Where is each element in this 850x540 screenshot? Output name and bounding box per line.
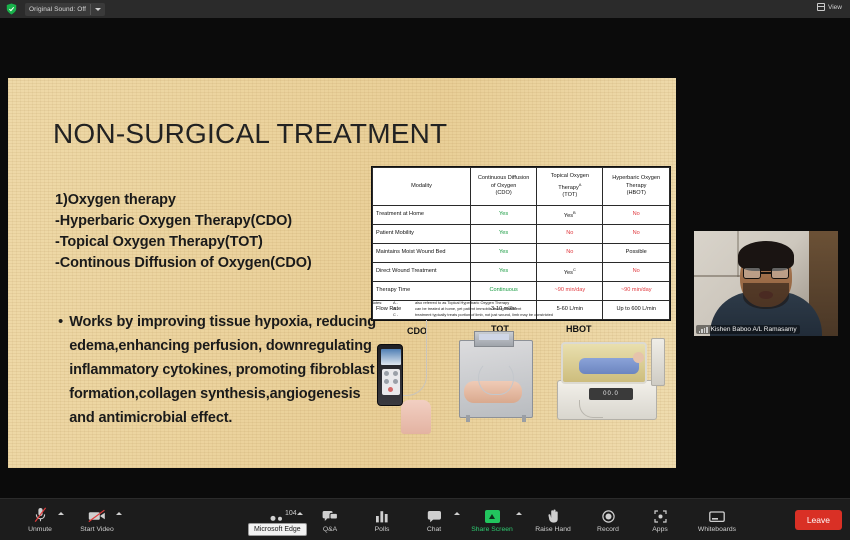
whiteboards-label: Whiteboards	[698, 526, 736, 533]
device-screen	[381, 349, 401, 365]
header-line: Hyperbaric Oxygen	[604, 175, 668, 183]
header-line: Therapy	[604, 183, 668, 191]
patient-body	[579, 358, 639, 374]
slide-bullet-lines: 1)Oxygen therapy -Hyperbaric Oxygen Ther…	[55, 190, 385, 274]
row-label: Therapy Time	[373, 282, 471, 301]
cell-text: Yes	[564, 270, 573, 276]
meeting-toolbar: Unmute Start Video 104 Q&A	[0, 498, 850, 540]
leave-button[interactable]: Leave	[795, 510, 842, 530]
participants-count: 104	[285, 510, 297, 517]
raise-hand-label: Raise Hand	[535, 526, 571, 533]
header-line: of Oxygen	[472, 183, 535, 191]
chat-button[interactable]: Chat	[408, 499, 460, 540]
toolbar-center-group: 104 Q&A Polls Chat Share Screen	[248, 499, 748, 540]
record-label: Record	[597, 526, 619, 533]
camera-muted-icon	[88, 507, 106, 523]
toolbar-left-group: Unmute Start Video	[14, 499, 128, 540]
record-button[interactable]: Record	[582, 499, 634, 540]
slide-paragraph: • Works by improving tissue hypoxia, red…	[58, 310, 388, 430]
cell-tot: No	[537, 225, 603, 244]
chat-label: Chat	[427, 526, 441, 533]
cell-cdo: Yes	[471, 244, 537, 263]
eyeglasses-right-lens	[771, 267, 789, 279]
cell-hbot: No	[603, 225, 670, 244]
slide-title: NON-SURGICAL TREATMENT	[53, 118, 447, 150]
qa-label: Q&A	[323, 526, 337, 533]
footnote-text: treatment typically treats portion of li…	[415, 312, 671, 318]
photo-label-hbot: HBOT	[566, 324, 592, 334]
top-bar: Original Sound: Off View	[0, 0, 850, 18]
slide-line: 1)Oxygen therapy	[55, 190, 385, 211]
original-sound-button[interactable]: Original Sound: Off	[25, 3, 105, 16]
header-line: (CDO)	[472, 190, 535, 198]
header-line: Continuous Diffusion	[472, 175, 535, 183]
start-video-label: Start Video	[80, 526, 114, 533]
shared-slide: NON-SURGICAL TREATMENT 1)Oxygen therapy …	[8, 78, 676, 468]
table-header-cell: Modality	[373, 168, 471, 206]
table-row: Treatment at Home Yes YesB No	[373, 206, 670, 225]
cell-cdo: Continuous	[471, 282, 537, 301]
table-row: Patient Mobility Yes No No	[373, 225, 670, 244]
slide-line: -Hyperbaric Oxygen Therapy(CDO)	[55, 211, 385, 232]
row-label: Treatment at Home	[373, 206, 471, 225]
share-screen-icon	[485, 507, 500, 523]
start-video-button[interactable]: Start Video	[66, 499, 128, 540]
table-header-cell: Topical Oxygen TherapyA (TOT)	[537, 168, 603, 206]
cell-tot: ~90 min/day	[537, 282, 603, 301]
taskbar-tooltip: Microsoft Edge	[248, 523, 307, 536]
cell-cdo: Yes	[471, 206, 537, 225]
toolbar-right-group: Leave	[795, 505, 842, 535]
footnote-key: C -	[393, 312, 415, 318]
row-label: Patient Mobility	[373, 225, 471, 244]
view-label: View	[828, 4, 842, 11]
polls-label: Polls	[375, 526, 390, 533]
comparison-table: Modality Continuous Diffusion of Oxygen …	[371, 166, 671, 321]
header-line: (HBOT)	[604, 190, 668, 198]
header-line: Modality	[374, 183, 469, 191]
apps-button[interactable]: Apps	[634, 499, 686, 540]
chat-bubble-icon	[427, 507, 442, 523]
bullet-icon: •	[58, 310, 63, 430]
cell-cdo: Yes	[471, 263, 537, 282]
view-button[interactable]: View	[817, 3, 842, 11]
cell-tot: YesC	[537, 263, 603, 282]
chamber-door	[651, 338, 665, 386]
device-keypad	[382, 369, 400, 395]
participant-video-tile[interactable]: Kishen Baboo A/L Ramasamy	[694, 231, 838, 336]
cdo-hand-photo	[401, 400, 431, 434]
header-line: (TOT)	[538, 192, 601, 200]
cell-text: Yes	[564, 213, 573, 219]
header-text: Therapy	[558, 185, 579, 191]
unmute-label: Unmute	[28, 526, 52, 533]
share-screen-button[interactable]: Share Screen	[460, 499, 524, 540]
chamber-control-panel: 00.0	[589, 388, 633, 400]
divider	[90, 4, 91, 15]
patient-head	[633, 352, 644, 363]
cell-tot: YesB	[537, 206, 603, 225]
cell-hbot: ~90 min/day	[603, 282, 670, 301]
participant-name: Kishen Baboo A/L Ramasamy	[711, 326, 797, 333]
chevron-up-icon[interactable]	[516, 512, 522, 515]
slide-paragraph-text: Works by improving tissue hypoxia, reduc…	[69, 310, 388, 430]
chamber-leg	[466, 415, 470, 422]
table-header-row: Modality Continuous Diffusion of Oxygen …	[373, 168, 670, 206]
chamber-tubing	[478, 361, 514, 395]
table-header-cell: Continuous Diffusion of Oxygen (CDO)	[471, 168, 537, 206]
chevron-up-icon[interactable]	[297, 512, 303, 515]
apps-brackets-icon	[654, 507, 667, 523]
cell-hbot: No	[603, 206, 670, 225]
spacer	[371, 312, 393, 318]
footnote-marker: A	[579, 182, 582, 187]
footnote-row: C - treatment typically treats portion o…	[371, 312, 671, 318]
chevron-up-icon[interactable]	[58, 512, 64, 515]
security-shield-icon[interactable]	[6, 3, 17, 15]
raise-hand-button[interactable]: Raise Hand	[524, 499, 582, 540]
table-row: Maintains Moist Wound Bed Yes No Possibl…	[373, 244, 670, 263]
signal-bars-icon	[699, 327, 708, 333]
table-row: Therapy Time Continuous ~90 min/day ~90 …	[373, 282, 670, 301]
chamber-base	[557, 380, 657, 420]
cell-hbot: No	[603, 263, 670, 282]
table-header-cell: Hyperbaric Oxygen Therapy (HBOT)	[603, 168, 670, 206]
chamber-glass	[561, 342, 647, 384]
qa-bubbles-icon	[322, 507, 338, 523]
table-footnotes: Notes: A - also referred to as Topical H…	[371, 300, 671, 319]
hbot-chamber-photo: 00.0	[553, 336, 663, 422]
qa-button[interactable]: Q&A	[304, 499, 356, 540]
row-label: Direct Wound Treatment	[373, 263, 471, 282]
meeting-stage: NON-SURGICAL TREATMENT 1)Oxygen therapy …	[0, 18, 850, 498]
microphone-muted-icon	[34, 507, 47, 523]
eyeglasses-bridge	[761, 272, 771, 274]
apps-label: Apps	[652, 526, 668, 533]
record-circle-icon	[602, 507, 615, 523]
slide-line: -Topical Oxygen Therapy(TOT)	[55, 232, 385, 253]
participant-name-badge: Kishen Baboo A/L Ramasamy	[696, 325, 800, 334]
whiteboards-button[interactable]: Whiteboards	[686, 499, 748, 540]
original-sound-label: Original Sound: Off	[29, 6, 86, 13]
cell-tot: No	[537, 244, 603, 263]
footnote-marker: C	[573, 267, 576, 272]
table-row: Direct Wound Treatment Yes YesC No	[373, 263, 670, 282]
slide-line: -Continous Diffusion of Oxygen(CDO)	[55, 253, 385, 274]
tot-chamber-photo	[459, 340, 533, 418]
chevron-down-icon[interactable]	[95, 8, 101, 11]
chamber-top-unit	[474, 331, 514, 347]
footnote-marker: B	[573, 210, 576, 215]
header-line: TherapyA	[538, 181, 601, 192]
row-label: Maintains Moist Wound Bed	[373, 244, 471, 263]
raise-hand-icon	[548, 507, 559, 523]
chamber-leg	[522, 415, 526, 422]
polls-button[interactable]: Polls	[356, 499, 408, 540]
unmute-button[interactable]: Unmute	[14, 499, 66, 540]
header-line: Topical Oxygen	[538, 173, 601, 181]
layout-grid-icon	[817, 3, 825, 11]
cdo-device-photo	[377, 344, 403, 406]
chevron-up-icon[interactable]	[116, 512, 122, 515]
eyeglasses-left-lens	[743, 267, 761, 279]
polls-bars-icon	[375, 507, 389, 523]
cell-hbot: Possible	[603, 244, 670, 263]
cdo-tubing	[401, 320, 427, 396]
whiteboard-icon	[709, 507, 725, 523]
cell-cdo: Yes	[471, 225, 537, 244]
participant-mouth	[759, 291, 773, 299]
device-photos: CDO TOT HBOT	[371, 328, 671, 436]
share-screen-label: Share Screen	[471, 526, 513, 533]
